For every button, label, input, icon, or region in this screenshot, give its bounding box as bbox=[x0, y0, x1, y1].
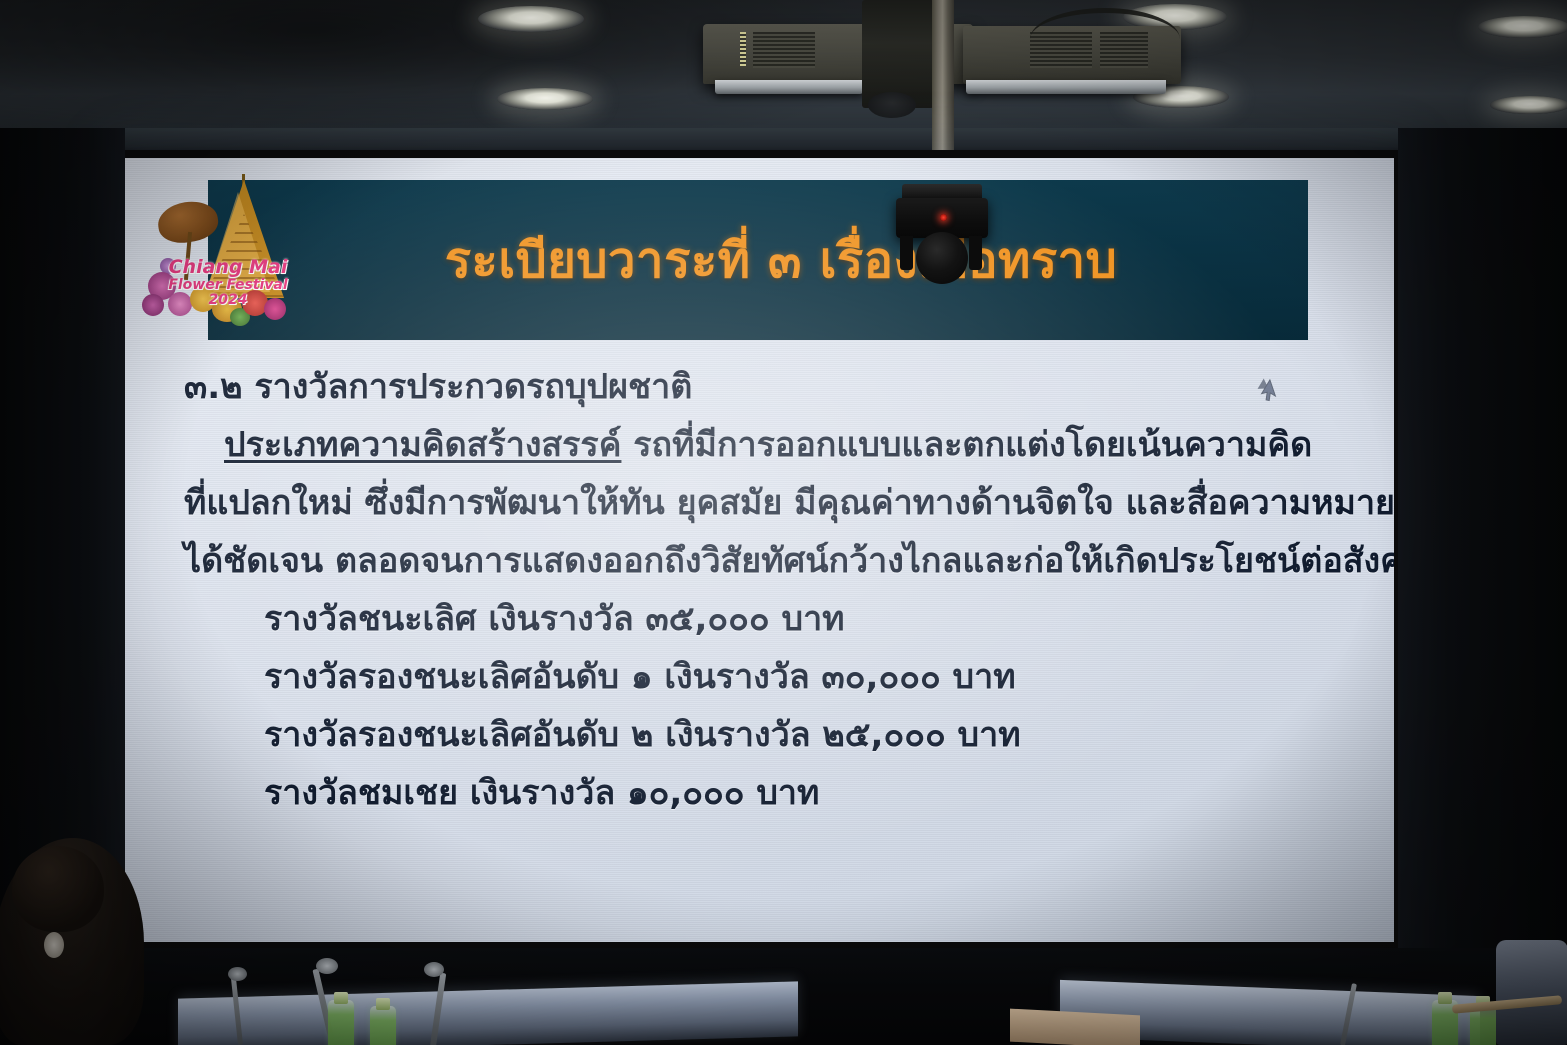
bottle-cap bbox=[334, 992, 348, 1004]
slide-desc-line-3: ได้ชัดเจน ตลอดจนการแสดงออกถึงวิสัยทัศน์ก… bbox=[184, 532, 1364, 590]
prize-line: รางวัลรองชนะเลิศอันดับ ๑ เงินรางวัล ๓๐,๐… bbox=[184, 648, 1364, 706]
projector-mount-plate bbox=[966, 80, 1166, 94]
camera-arm-right bbox=[969, 236, 982, 270]
chiang-mai-flower-festival-logo: Chiang Mai Flower Festival 2024 bbox=[142, 174, 302, 332]
prize-line: รางวัลชมเชย เงินรางวัล ๑๐,๐๐๐ บาท bbox=[184, 764, 1364, 822]
slide-header-band: ระเบียบวาระที่ ๓ เรื่องเพื่อทราบ bbox=[208, 180, 1308, 340]
water-bottle bbox=[370, 1006, 396, 1045]
ceiling-downlight-icon bbox=[478, 6, 584, 32]
slide-body: ๓.๒ รางวัลการประกวดรถบุปผชาติ ประเภทความ… bbox=[184, 358, 1364, 822]
room-right-dark bbox=[1398, 128, 1567, 1045]
prize-line: รางวัลรองชนะเลิศอันดับ ๒ เงินรางวัล ๒๕,๐… bbox=[184, 706, 1364, 764]
microphone-head-icon bbox=[316, 958, 338, 974]
room-floor-dark bbox=[0, 948, 1567, 1045]
person-earpiece bbox=[44, 932, 64, 958]
projector-indicator-lights bbox=[740, 32, 746, 66]
slide-title: ระเบียบวาระที่ ๓ เรื่องเพื่อทราบ bbox=[208, 180, 1308, 340]
water-bottle bbox=[328, 1000, 354, 1045]
projector-lens-icon bbox=[868, 92, 916, 118]
category-label: ประเภทความคิดสร้างสรรค์ bbox=[224, 425, 621, 465]
presentation-slide: ระเบียบวาระที่ ๓ เรื่องเพื่อทราบ Chiang … bbox=[122, 158, 1394, 942]
microphone-head-icon bbox=[228, 967, 247, 981]
camera-arm-left bbox=[900, 236, 913, 270]
projector-vent bbox=[753, 32, 815, 68]
conference-table-left bbox=[178, 981, 798, 1045]
papers-stack bbox=[1010, 1009, 1140, 1045]
bottle-cap bbox=[1476, 996, 1490, 1008]
slide-category-line: ประเภทความคิดสร้างสรรค์ รถที่มีการออกแบบ… bbox=[184, 416, 1364, 474]
ceiling-downlight-icon bbox=[1478, 16, 1567, 38]
ptz-camera bbox=[896, 184, 988, 304]
microphone-stand bbox=[1340, 983, 1357, 1045]
slide-heading: ๓.๒ รางวัลการประกวดรถบุปผชาติ bbox=[184, 358, 1364, 416]
conference-table-right bbox=[1060, 980, 1480, 1045]
water-bottle bbox=[1470, 1004, 1496, 1045]
room-left-dark bbox=[0, 128, 125, 1045]
flower-icon bbox=[264, 298, 286, 320]
person-head bbox=[12, 846, 104, 932]
category-description: รถที่มีการออกแบบและตกแต่งโดยเน้นความคิด bbox=[621, 425, 1312, 465]
chair-armrest bbox=[1452, 995, 1562, 1014]
microphone-stand bbox=[430, 973, 446, 1045]
microphone-stand bbox=[231, 976, 243, 1045]
slide-desc-line-2: ที่แปลกใหม่ ซึ่งมีการพัฒนาให้ทัน ยุคสมัย… bbox=[184, 474, 1364, 532]
prize-line: รางวัลชนะเลิศ เงินรางวัล ๓๕,๐๐๐ บาท bbox=[184, 590, 1364, 648]
projector-mount-plate bbox=[715, 80, 863, 94]
photo-scene: ระเบียบวาระที่ ๓ เรื่องเพื่อทราบ Chiang … bbox=[0, 0, 1567, 1045]
microphone-head-icon bbox=[424, 962, 444, 977]
microphone-stand bbox=[312, 969, 335, 1045]
flower-icon bbox=[142, 294, 164, 316]
bottle-cap bbox=[376, 998, 390, 1010]
chair bbox=[1496, 940, 1567, 1045]
camera-lens-icon bbox=[916, 232, 968, 284]
ceiling-downlight-icon bbox=[1490, 96, 1567, 114]
ceiling-downlight-icon bbox=[497, 88, 593, 110]
camera-record-led-icon bbox=[940, 214, 947, 221]
water-bottle bbox=[1432, 1000, 1458, 1045]
flower-icon bbox=[168, 292, 192, 316]
bottle-cap bbox=[1438, 992, 1452, 1004]
